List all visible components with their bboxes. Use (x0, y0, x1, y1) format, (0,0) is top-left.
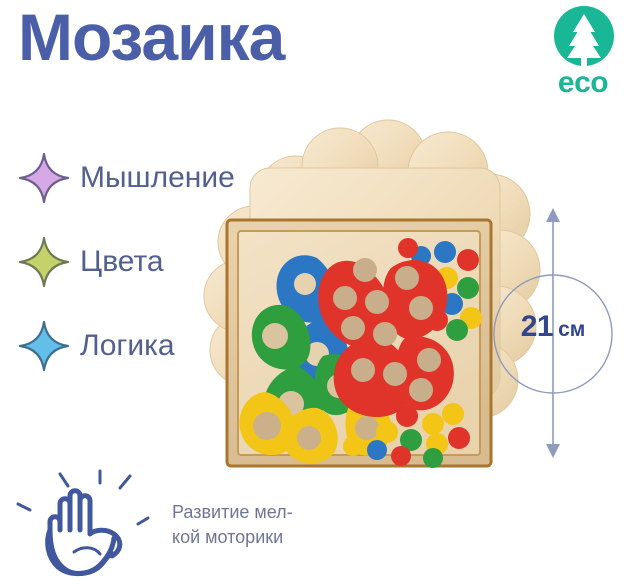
page-title: Мозаика (18, 4, 284, 70)
tree-icon (554, 6, 614, 66)
dimension-unit: см (558, 318, 585, 341)
motor-skills-line-1: Развитие мел- (172, 500, 332, 525)
motor-skills-text: Развитие мел- кой моторики (172, 500, 332, 550)
eco-badge: eco (548, 6, 618, 114)
dimension-text: 21см (490, 310, 616, 344)
motor-skills-block: Развитие мел- кой моторики (12, 468, 332, 580)
four-point-star-icon (18, 236, 70, 288)
feature-label: Логика (80, 324, 175, 368)
dimension-value: 21 (521, 310, 553, 343)
four-point-star-icon (18, 152, 70, 204)
hand-icon (12, 468, 162, 578)
dimension-callout: 21см (490, 200, 624, 462)
motor-skills-line-2: кой моторики (172, 525, 332, 550)
feature-label: Цвета (80, 240, 164, 284)
eco-label: eco (548, 68, 618, 98)
mosaic-box-photo (225, 218, 493, 468)
four-point-star-icon (18, 320, 70, 372)
infographic-root: Мозаика eco Мышление Цвета Логика (0, 0, 624, 584)
